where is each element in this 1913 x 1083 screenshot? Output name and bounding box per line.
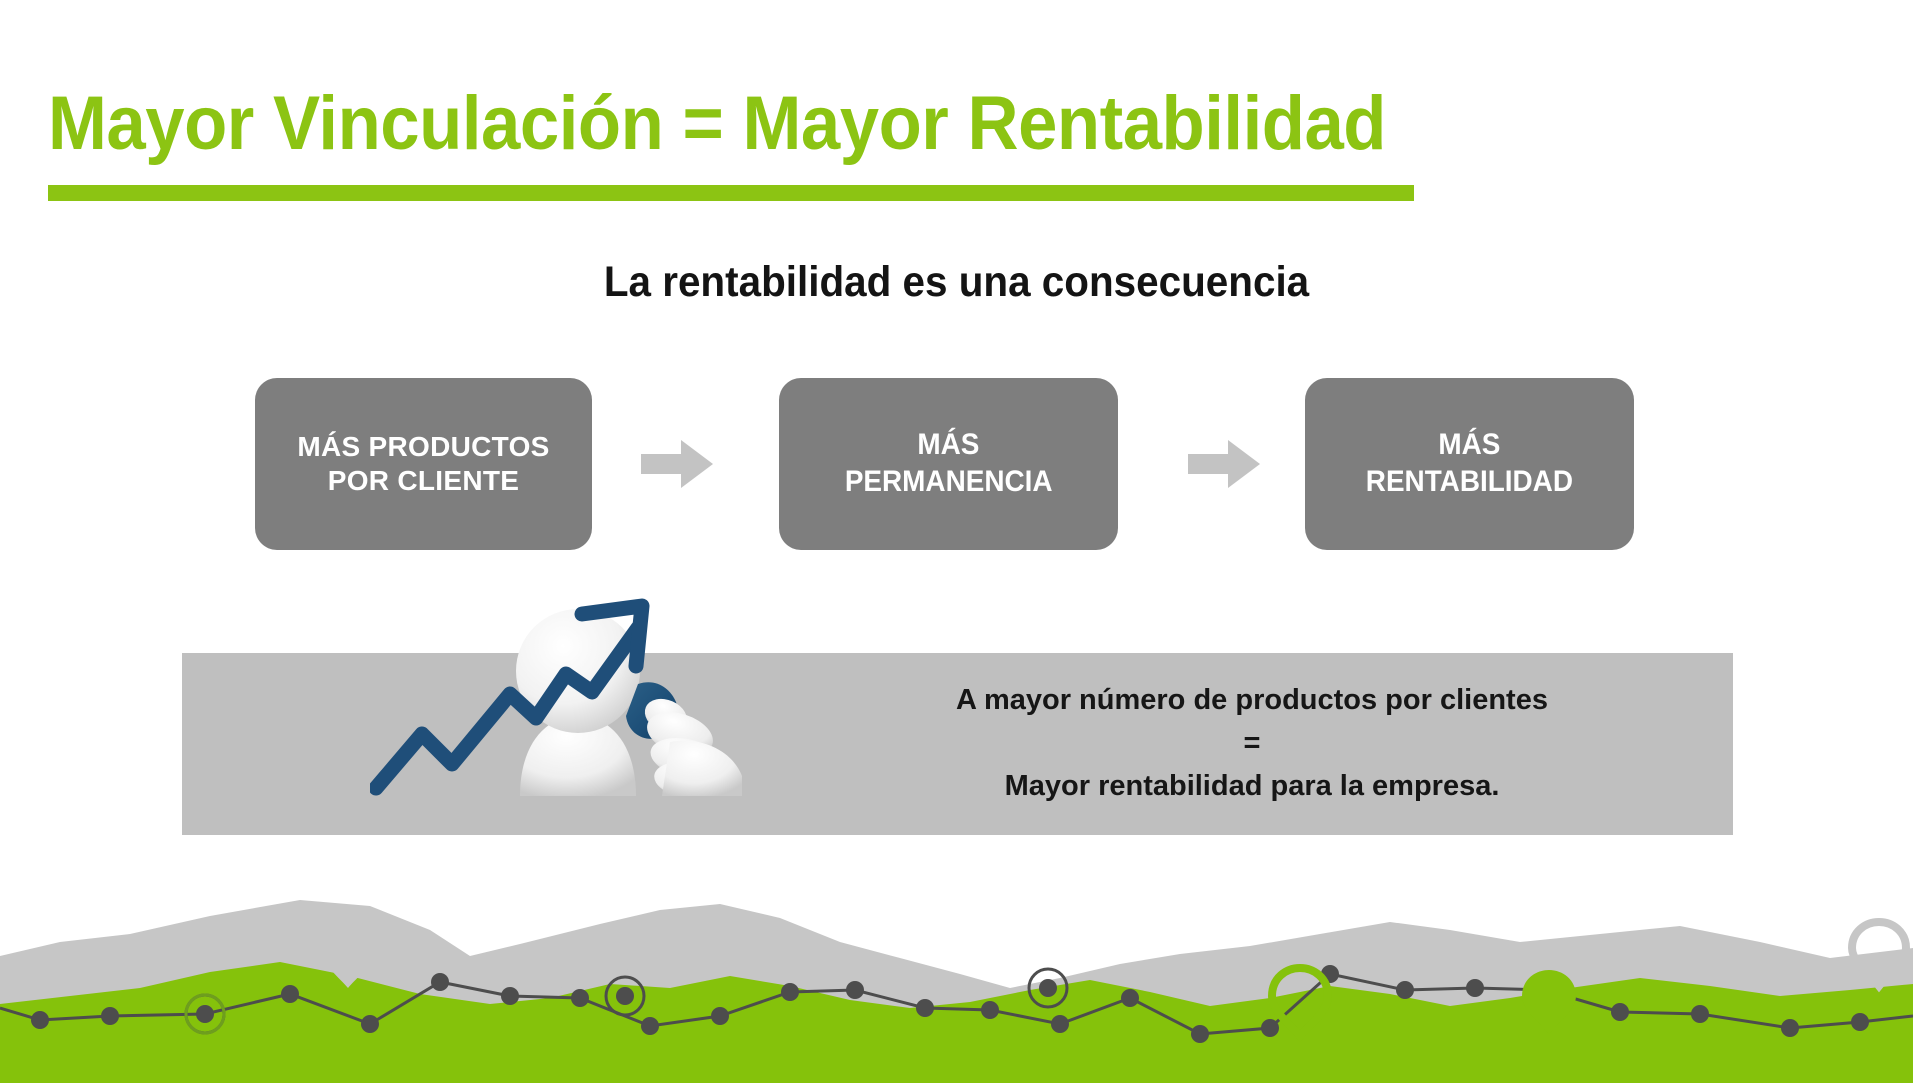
process-flow: MÁS PRODUCTOS POR CLIENTE MÁS PERMANENCI… bbox=[0, 378, 1913, 550]
flow-box-1-line2: POR CLIENTE bbox=[328, 464, 520, 498]
flow-box-2-line2: PERMANENCIA bbox=[845, 464, 1053, 501]
flow-box-mas-productos[interactable]: MÁS PRODUCTOS POR CLIENTE bbox=[255, 378, 592, 550]
subtitle: La rentabilidad es una consecuencia bbox=[57, 258, 1855, 307]
arrow-right-icon bbox=[1188, 440, 1260, 488]
banner-line-1: A mayor número de productos por clientes bbox=[802, 679, 1702, 722]
flow-box-1-line1: MÁS PRODUCTOS bbox=[297, 430, 549, 464]
person-drawing-growth-arrow-illustration bbox=[370, 566, 790, 796]
flow-box-3-line1: MÁS bbox=[1438, 427, 1500, 464]
arrow-right-icon bbox=[641, 440, 713, 488]
flow-box-mas-rentabilidad[interactable]: MÁS RENTABILIDAD bbox=[1305, 378, 1634, 550]
banner-line-equals: = bbox=[802, 722, 1702, 765]
banner-text-block: A mayor número de productos por clientes… bbox=[802, 679, 1702, 808]
footer-decoration-chart bbox=[0, 838, 1913, 1083]
slide-canvas: Mayor Vinculación = Mayor Rentabilidad L… bbox=[0, 0, 1913, 1083]
flow-box-3-line2: RENTABILIDAD bbox=[1366, 464, 1573, 501]
flow-box-2-line1: MÁS bbox=[917, 427, 979, 464]
flow-box-mas-permanencia[interactable]: MÁS PERMANENCIA bbox=[779, 378, 1118, 550]
banner-line-3: Mayor rentabilidad para la empresa. bbox=[802, 765, 1702, 808]
title-underline-rule bbox=[48, 185, 1414, 201]
page-title: Mayor Vinculación = Mayor Rentabilidad bbox=[48, 86, 1350, 162]
